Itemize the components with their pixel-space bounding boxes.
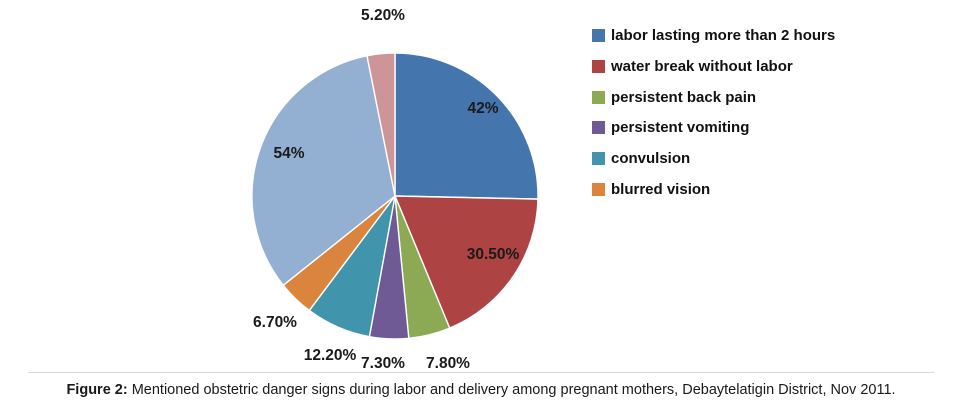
legend-item-label: water break without labor [611,57,793,77]
pie-slice-group [252,53,538,339]
caption-figure-number: Figure 2: [66,382,127,398]
legend-swatch-icon [592,29,605,42]
pie-data-label: 7.80% [426,355,470,370]
pie-data-label: 6.70% [253,314,297,331]
legend-swatch-icon [592,121,605,134]
legend-item[interactable]: labor lasting more than 2 hours [592,26,942,46]
pie-data-label: 7.30% [361,355,405,370]
legend-item[interactable]: convulsion [592,149,942,169]
pie-data-label: 42% [467,100,498,117]
figure-caption: Figure 2: Mentioned obstetric danger sig… [0,382,962,398]
figure-container: 42%30.50%7.80%7.30%12.20%6.70%54%5.20% l… [0,0,962,417]
legend-item-label: labor lasting more than 2 hours [611,26,835,46]
legend-item[interactable]: persistent back pain [592,88,942,108]
legend-item-label: convulsion [611,149,690,169]
pie-slice[interactable] [395,53,538,199]
pie-data-label: 12.20% [304,347,357,364]
pie-data-label: 54% [273,145,304,162]
chart-legend: labor lasting more than 2 hourswater bre… [592,26,942,211]
caption-text: Mentioned obstetric danger signs during … [128,382,896,398]
caption-divider [28,372,934,373]
legend-swatch-icon [592,183,605,196]
pie-data-label: 5.20% [361,7,405,24]
legend-item[interactable]: water break without labor [592,57,942,77]
legend-item[interactable]: persistent vomiting [592,118,942,138]
legend-item-label: persistent vomiting [611,118,749,138]
legend-swatch-icon [592,152,605,165]
pie-data-label: 30.50% [467,246,520,263]
legend-item[interactable]: blurred vision [592,180,942,200]
legend-item-label: persistent back pain [611,88,756,108]
legend-swatch-icon [592,91,605,104]
legend-item-label: blurred vision [611,180,710,200]
legend-swatch-icon [592,60,605,73]
